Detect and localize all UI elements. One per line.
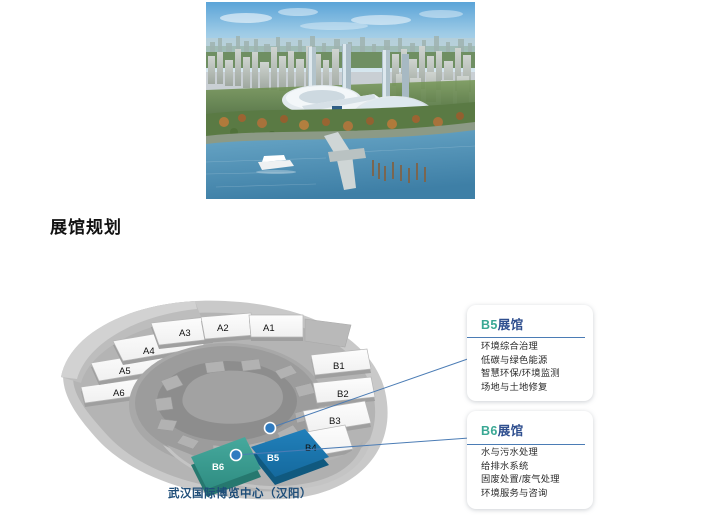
hall-label-a5: A5 (119, 366, 131, 377)
list-item: 场地与土地修复 (481, 381, 579, 395)
venue-map-caption: 武汉国际博览中心（汉阳） (168, 485, 312, 501)
list-item: 固废处置/废气处理 (481, 473, 579, 487)
list-item: 环境综合治理 (481, 340, 579, 354)
hall-label-b2: B2 (337, 389, 349, 400)
hall-label-b5: B5 (267, 453, 280, 464)
hall-label-a1: A1 (263, 323, 275, 334)
hall-label-b4: B4 (305, 443, 317, 454)
hall-label-a4: A4 (143, 346, 155, 357)
list-item: 给排水系统 (481, 460, 579, 474)
list-item: 环境服务与咨询 (481, 487, 579, 501)
hall-label-b3: B3 (329, 416, 341, 427)
panel-b5-title: B5展馆 (481, 314, 579, 333)
venue-map: A6 A5 A4 A3 A2 A1 B1 B2 B3 B4 B5 B6 (55, 295, 425, 515)
hall-label-b6: B6 (212, 462, 224, 473)
panel-b5-suffix: 展馆 (498, 318, 524, 332)
panel-b6-divider (467, 444, 585, 445)
list-item: 智慧环保/环境监测 (481, 367, 579, 381)
page-title: 展馆规划 (50, 213, 122, 238)
list-item: 水与污水处理 (481, 446, 579, 460)
hall-label-a3: A3 (179, 328, 191, 339)
hall-label-a6: A6 (113, 388, 125, 399)
panel-b6-suffix: 展馆 (498, 424, 524, 438)
list-item: 低碳与绿色能源 (481, 354, 579, 368)
venue-map-illustration: A6 A5 A4 A3 A2 A1 B1 B2 B3 B4 B5 B6 (55, 295, 425, 515)
panel-b5-items: 环境综合治理 低碳与绿色能源 智慧环保/环境监测 场地与土地修复 (481, 340, 579, 394)
panel-b6-code: B6 (481, 424, 498, 438)
hall-label-a2: A2 (217, 323, 229, 334)
panel-b6-title: B6展馆 (481, 420, 579, 439)
hero-illustration (206, 2, 475, 199)
panel-b5-code: B5 (481, 318, 498, 332)
panel-b6[interactable]: B6展馆 水与污水处理 给排水系统 固废处置/废气处理 环境服务与咨询 (467, 411, 593, 509)
hall-label-b1: B1 (333, 361, 345, 372)
panel-b5[interactable]: B5展馆 环境综合治理 低碳与绿色能源 智慧环保/环境监测 场地与土地修复 (467, 305, 593, 401)
panel-b5-divider (467, 337, 585, 338)
panel-b6-items: 水与污水处理 给排水系统 固废处置/废气处理 环境服务与咨询 (481, 446, 579, 500)
hero-rendering-image (206, 2, 475, 199)
